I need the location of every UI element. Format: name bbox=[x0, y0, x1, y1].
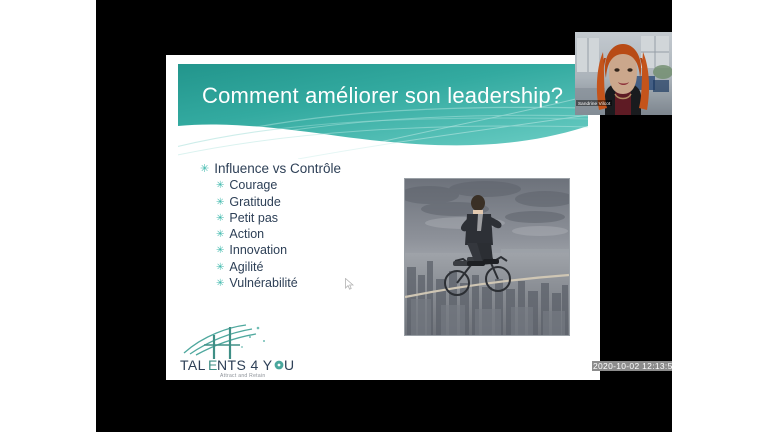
participant-name-label: Sandrine Vilcot bbox=[576, 100, 612, 106]
screen: Comment améliorer son leadership? ✳ Infl… bbox=[0, 0, 768, 432]
bullet-label: Influence vs Contrôle bbox=[214, 162, 341, 177]
bullet-marker-icon: ✳ bbox=[216, 230, 224, 240]
list-item: ✳ Agilité bbox=[200, 261, 410, 275]
shared-slide: Comment améliorer son leadership? ✳ Infl… bbox=[166, 55, 600, 380]
bullet-marker-icon: ✳ bbox=[200, 164, 209, 175]
bullet-label: Courage bbox=[229, 179, 277, 193]
bullet-label: Petit pas bbox=[229, 212, 278, 226]
bullet-marker-icon: ✳ bbox=[216, 279, 224, 289]
bullet-label: Innovation bbox=[229, 244, 287, 258]
list-item: ✳ Courage bbox=[200, 179, 410, 193]
bullet-marker-icon: ✳ bbox=[216, 181, 224, 191]
slide-title: Comment améliorer son leadership? bbox=[202, 83, 563, 109]
slide-bullet-list: ✳ Influence vs Contrôle ✳ Courage ✳ Grat… bbox=[200, 162, 410, 293]
bullet-label: Vulnérabilité bbox=[229, 277, 297, 291]
slide-photo bbox=[404, 178, 570, 336]
video-letterbox-canvas: Comment améliorer son leadership? ✳ Infl… bbox=[96, 0, 672, 432]
list-item: ✳ Vulnérabilité bbox=[200, 277, 410, 291]
bullet-label: Action bbox=[229, 228, 264, 242]
list-item: ✳ Petit pas bbox=[200, 212, 410, 226]
list-item: ✳ Action bbox=[200, 228, 410, 242]
svg-text:NTS 4 Y: NTS 4 Y bbox=[217, 357, 273, 373]
list-item: ✳ Innovation bbox=[200, 244, 410, 258]
svg-text:TAL: TAL bbox=[180, 357, 206, 373]
bullet-marker-icon: ✳ bbox=[216, 246, 224, 256]
list-item: ✳ Influence vs Contrôle bbox=[200, 162, 410, 177]
bullet-label: Agilité bbox=[229, 261, 263, 275]
company-logo: TAL E NTS 4 Y U Attract and Retain bbox=[174, 323, 324, 379]
bullet-marker-icon: ✳ bbox=[216, 214, 224, 224]
mouse-cursor-icon bbox=[345, 278, 354, 290]
recording-timestamp: 2020-10-02 12:13:56 bbox=[592, 361, 672, 371]
participant-video-thumbnail[interactable]: Sandrine Vilcot bbox=[575, 32, 672, 115]
bullet-marker-icon: ✳ bbox=[216, 198, 224, 208]
timestamp-text: 2020-10-02 12:13:56 bbox=[592, 361, 672, 371]
list-item: ✳ Gratitude bbox=[200, 196, 410, 210]
bullet-label: Gratitude bbox=[229, 196, 280, 210]
slide-wave-decoration bbox=[178, 115, 588, 159]
svg-text:U: U bbox=[284, 357, 294, 373]
bullet-marker-icon: ✳ bbox=[216, 263, 224, 273]
svg-text:Attract and Retain: Attract and Retain bbox=[220, 373, 265, 379]
